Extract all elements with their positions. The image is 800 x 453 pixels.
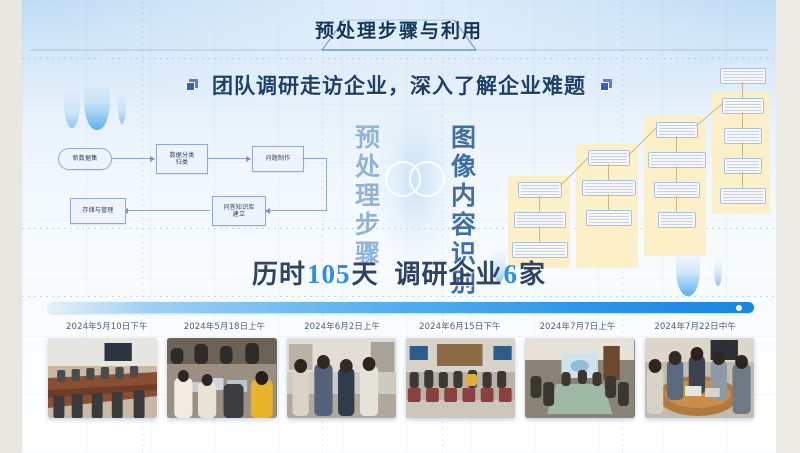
flow-arrow xyxy=(208,158,250,159)
photo-roundtable-workshop[interactable] xyxy=(645,338,754,418)
stats-companies-value: 6 xyxy=(503,259,520,289)
photo-meeting-room-long-table[interactable] xyxy=(48,338,157,418)
timeline-date: 2024年7月7日上午 xyxy=(519,320,637,332)
preprocess-flowchart: 新数据集 数据分类 归类 问题制作 问答知识库 建立 存储与管理 xyxy=(58,134,318,246)
timeline-progress-bar[interactable] xyxy=(48,302,754,313)
photo-strip xyxy=(48,338,754,418)
stats-companies-unit: 家 xyxy=(519,260,546,289)
timeline-dates: 2024年5月10日下午 2024年5月18日上午 2024年6月2日上午 20… xyxy=(48,320,754,332)
timeline-date: 2024年7月22日中午 xyxy=(636,320,754,332)
flow-node-qa-knowledge-base: 问答知识库 建立 xyxy=(212,196,266,226)
stats-days-unit: 天 xyxy=(351,260,378,289)
venn-circles-icon xyxy=(385,155,447,203)
timeline-date: 2024年6月2日上午 xyxy=(283,320,401,332)
presentation-slide: 预处理步骤与利用 团队调研走访企业，深入了解企业难题 预处理步骤 图像内容识别 … xyxy=(22,0,776,453)
blue-square-icon xyxy=(186,79,198,91)
stats-days-value: 105 xyxy=(306,259,352,289)
photo-conference-room-projector[interactable] xyxy=(525,338,634,418)
left-margin xyxy=(0,0,22,453)
stats-prefix-companies: 调研企业 xyxy=(395,260,503,289)
timeline-date: 2024年5月18日上午 xyxy=(166,320,284,332)
flow-arrow xyxy=(112,158,154,159)
stair-connectors xyxy=(506,82,774,268)
page-title: 预处理步骤与利用 xyxy=(22,16,776,43)
flow-arrow xyxy=(124,210,210,211)
flow-arrow xyxy=(266,210,327,211)
timeline-date: 2024年6月15日下午 xyxy=(401,320,519,332)
survey-stats: 历时105天调研企业6家 xyxy=(22,254,776,291)
stats-prefix-duration: 历时 xyxy=(252,260,306,289)
flow-arrow xyxy=(326,158,327,210)
image-recognition-staircase-diagram xyxy=(506,82,774,268)
flow-node-storage-management: 存储与管理 xyxy=(70,198,126,224)
flow-node-question-making: 问题制作 xyxy=(252,146,304,172)
vertical-heading-preprocess: 预处理步骤 xyxy=(352,124,378,269)
photo-standing-discussion[interactable] xyxy=(287,338,396,418)
flow-node-classify: 数据分类 归类 xyxy=(156,144,208,174)
timeline-date: 2024年5月10日下午 xyxy=(48,320,166,332)
title-banner: 预处理步骤与利用 xyxy=(22,6,776,54)
guide-line xyxy=(22,296,776,297)
guide-line xyxy=(22,58,776,59)
flow-node-new-dataset: 新数据集 xyxy=(58,148,112,170)
flow-arrow xyxy=(302,158,326,159)
progress-knob[interactable] xyxy=(736,305,742,311)
slide-stage: 预处理步骤与利用 团队调研走访企业，深入了解企业难题 预处理步骤 图像内容识别 … xyxy=(0,0,800,453)
photo-lecture-hall-audience[interactable] xyxy=(406,338,515,418)
photo-team-laptops-seminar[interactable] xyxy=(167,338,276,418)
right-margin xyxy=(776,0,800,453)
